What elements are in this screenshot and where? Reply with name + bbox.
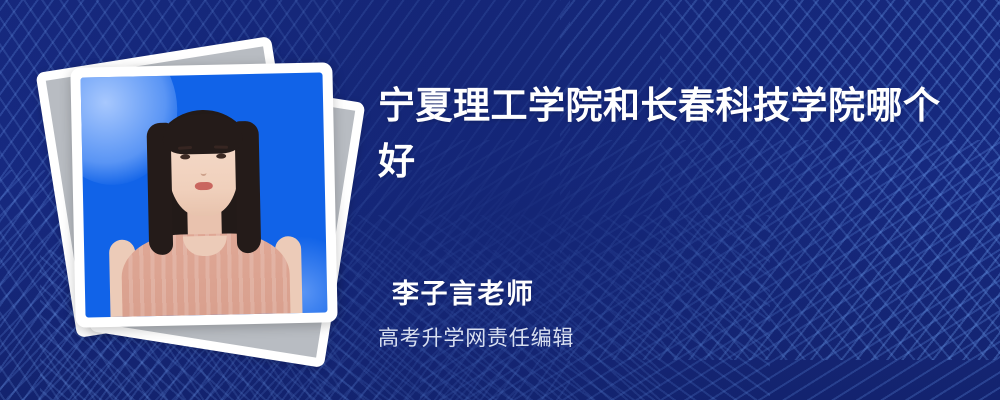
author-photo-stack: [60, 35, 350, 355]
photo-card-front: [70, 62, 337, 327]
portrait-lips: [195, 182, 213, 190]
author-role: 高考升学网责任编辑: [378, 322, 574, 352]
portrait-nose: [200, 166, 206, 176]
author-name: 李子言老师: [392, 272, 574, 311]
banner-text-column: 宁夏理工学院和长春科技学院哪个好 李子言老师 高考升学网责任编辑: [378, 0, 978, 400]
author-portrait-photo: [81, 72, 328, 317]
article-title: 宁夏理工学院和长春科技学院哪个好: [378, 78, 958, 190]
portrait-figure: [81, 101, 327, 317]
portrait-eye-right: [216, 153, 226, 158]
portrait-eyebrow-right: [214, 145, 228, 148]
author-byline: 李子言老师 高考升学网责任编辑: [392, 272, 574, 352]
portrait-eye-left: [180, 154, 190, 159]
article-cover-banner: 宁夏理工学院和长春科技学院哪个好 李子言老师 高考升学网责任编辑: [0, 0, 1000, 400]
